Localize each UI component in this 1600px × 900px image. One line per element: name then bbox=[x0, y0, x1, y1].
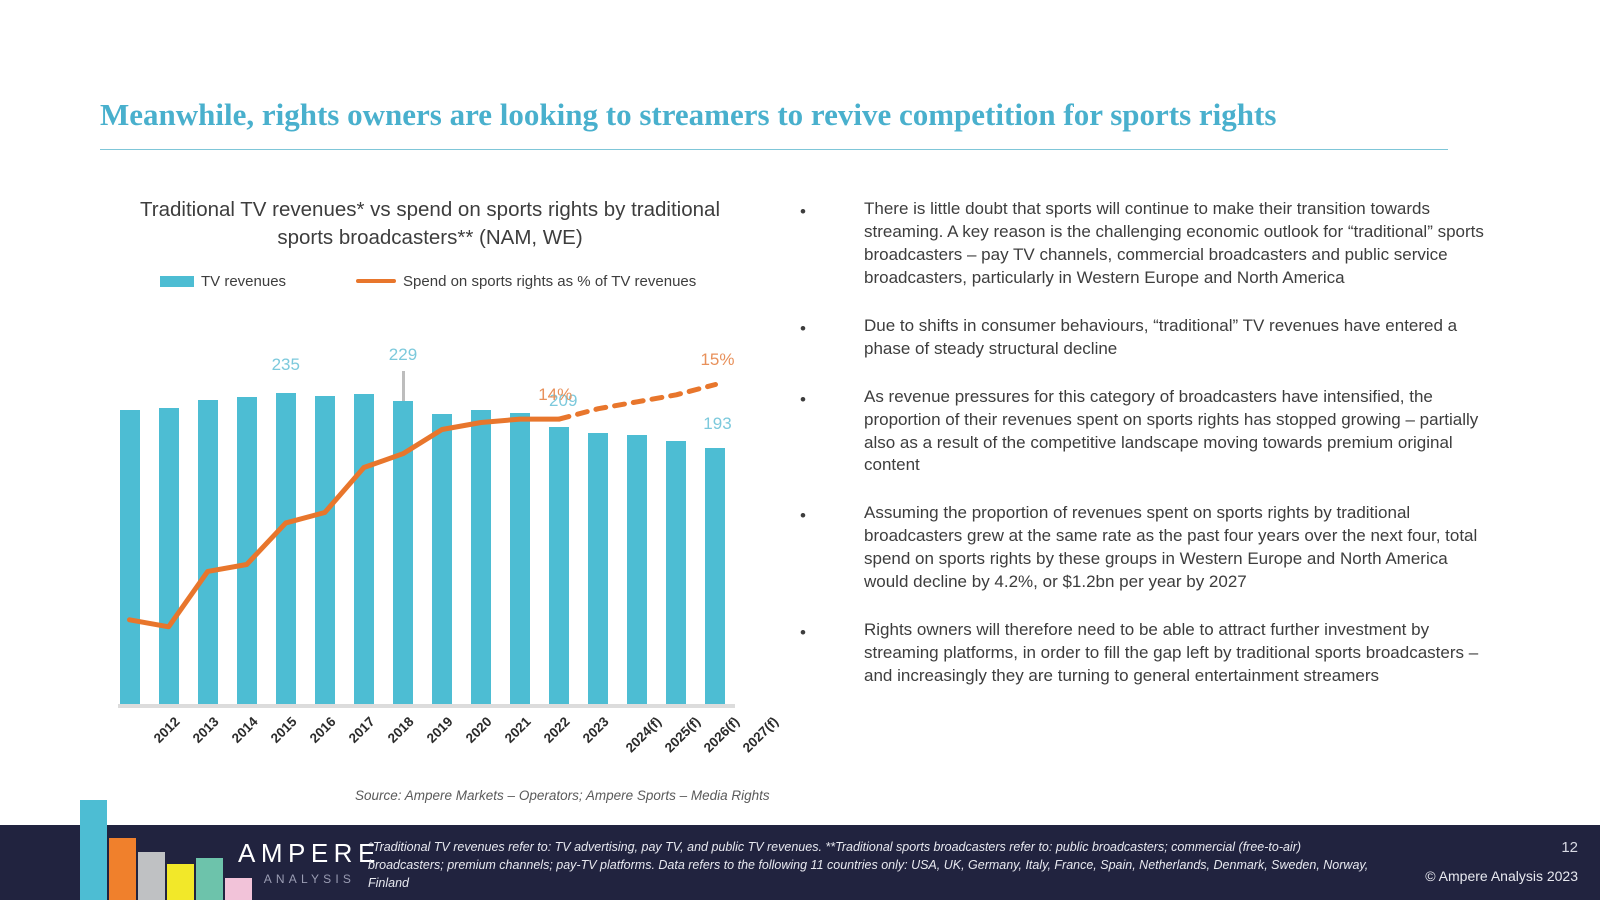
logo-subtitle: ANALYSIS bbox=[238, 872, 381, 886]
x-tick-2014: 2014 bbox=[228, 714, 260, 746]
bar-value-label-2019: 229 bbox=[389, 345, 417, 365]
x-tick-2023: 2023 bbox=[580, 714, 612, 746]
slide: Meanwhile, rights owners are looking to … bbox=[0, 0, 1600, 900]
x-tick-2017: 2017 bbox=[346, 714, 378, 746]
x-tick-2021: 2021 bbox=[502, 714, 534, 746]
page-title: Meanwhile, rights owners are looking to … bbox=[100, 96, 1450, 133]
footnote-text: *Traditional TV revenues refer to: TV ad… bbox=[368, 838, 1378, 892]
legend-bar-swatch-icon bbox=[160, 276, 194, 287]
bullet-dot-icon: • bbox=[800, 502, 864, 594]
x-tick-2019: 2019 bbox=[424, 714, 456, 746]
x-tick-2027f: 2027(f) bbox=[740, 714, 781, 755]
ampere-logo-text: AMPERE ANALYSIS bbox=[238, 838, 381, 886]
source-note: Source: Ampere Markets – Operators; Ampe… bbox=[355, 788, 770, 803]
logo-bar-1 bbox=[80, 800, 107, 900]
legend-label-sports-rights-share: Spend on sports rights as % of TV revenu… bbox=[403, 273, 696, 290]
bullet-item-4: •Assuming the proportion of revenues spe… bbox=[800, 502, 1490, 594]
x-tick-2020: 2020 bbox=[463, 714, 495, 746]
chart-title: Traditional TV revenues* vs spend on spo… bbox=[120, 196, 740, 253]
chart-legend: TV revenues Spend on sports rights as % … bbox=[160, 273, 760, 290]
bullet-text: As revenue pressures for this category o… bbox=[864, 386, 1490, 478]
bullet-text: Due to shifts in consumer behaviours, “t… bbox=[864, 315, 1490, 361]
pct-label-2023: 14% bbox=[538, 385, 572, 405]
bullet-dot-icon: • bbox=[800, 619, 864, 688]
logo-bar-2 bbox=[109, 838, 136, 900]
legend-item-sports-rights-share: Spend on sports rights as % of TV revenu… bbox=[356, 273, 696, 290]
bullet-list: •There is little doubt that sports will … bbox=[800, 198, 1490, 713]
bullet-dot-icon: • bbox=[800, 198, 864, 290]
bullet-dot-icon: • bbox=[800, 386, 864, 478]
data-labels-layer: 23522920919314%15% bbox=[110, 308, 735, 708]
x-tick-2016: 2016 bbox=[307, 714, 339, 746]
x-tick-2013: 2013 bbox=[189, 714, 221, 746]
bullet-item-2: •Due to shifts in consumer behaviours, “… bbox=[800, 315, 1490, 361]
legend-item-tv-revenues: TV revenues bbox=[160, 273, 286, 290]
bullet-item-5: •Rights owners will therefore need to be… bbox=[800, 619, 1490, 688]
bullet-dot-icon: • bbox=[800, 315, 864, 361]
bullet-text: Assuming the proportion of revenues spen… bbox=[864, 502, 1490, 594]
legend-line-swatch-icon bbox=[356, 279, 396, 283]
bullet-text: There is little doubt that sports will c… bbox=[864, 198, 1490, 290]
bar-value-label-2016: 235 bbox=[272, 355, 300, 375]
chart-block: Traditional TV revenues* vs spend on spo… bbox=[100, 196, 760, 778]
pct-label-2027f: 15% bbox=[700, 350, 734, 370]
title-divider bbox=[100, 149, 1448, 150]
page-number: 12 bbox=[1561, 839, 1578, 856]
logo-bar-5 bbox=[196, 858, 223, 900]
x-tick-2025f: 2025(f) bbox=[662, 714, 703, 755]
chart-plot-area: 23522920919314%15% bbox=[110, 308, 735, 708]
bullet-item-1: •There is little doubt that sports will … bbox=[800, 198, 1490, 290]
bullet-text: Rights owners will therefore need to be … bbox=[864, 619, 1490, 688]
logo-bar-4 bbox=[167, 864, 194, 900]
bullet-item-3: •As revenue pressures for this category … bbox=[800, 386, 1490, 478]
ampere-logo-bars-icon bbox=[80, 800, 252, 900]
x-tick-2018: 2018 bbox=[385, 714, 417, 746]
x-axis-labels: 2012201320142015201620172018201920202021… bbox=[110, 708, 735, 778]
logo-bar-3 bbox=[138, 852, 165, 900]
legend-label-tv-revenues: TV revenues bbox=[201, 273, 286, 290]
x-tick-2024f: 2024(f) bbox=[623, 714, 664, 755]
x-tick-2022: 2022 bbox=[541, 714, 573, 746]
copyright-text: © Ampere Analysis 2023 bbox=[1425, 868, 1578, 884]
x-tick-2015: 2015 bbox=[268, 714, 300, 746]
logo-name: AMPERE bbox=[238, 838, 381, 869]
bar-value-label-2027f: 193 bbox=[703, 414, 731, 434]
leader-line-2019 bbox=[402, 371, 405, 401]
x-tick-2012: 2012 bbox=[150, 714, 182, 746]
x-tick-2026f: 2026(f) bbox=[701, 714, 742, 755]
